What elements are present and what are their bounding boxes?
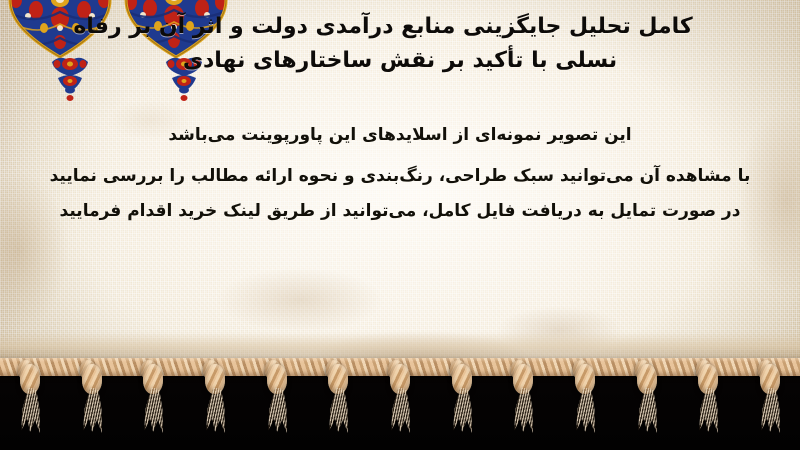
- presentation-slide: کامل تحلیل جایگزینی منابع درآمدی دولت و …: [0, 0, 800, 450]
- tassel: [4, 358, 56, 450]
- body-line-2: با مشاهده آن می‌توانید سبک طراحی، رنگ‌بن…: [14, 159, 786, 194]
- title-line-1: کامل تحلیل جایگزینی منابع درآمدی دولت و …: [18, 10, 782, 44]
- tassel: [251, 358, 303, 450]
- carpet-bottom-black-band: [0, 358, 800, 450]
- tassel: [744, 358, 796, 450]
- tassel: [436, 358, 488, 450]
- title-line-2: نسلی با تأکید بر نقش ساختارهای نهادی: [18, 44, 782, 78]
- tassel: [497, 358, 549, 450]
- slide-title: کامل تحلیل جایگزینی منابع درآمدی دولت و …: [0, 10, 800, 78]
- tassel: [559, 358, 611, 450]
- tassel: [189, 358, 241, 450]
- slide-body: این تصویر نمونه‌ای از اسلایدهای این پاور…: [0, 118, 800, 229]
- body-line-1: این تصویر نمونه‌ای از اسلایدهای این پاور…: [14, 118, 786, 153]
- tassel: [66, 358, 118, 450]
- tassel: [312, 358, 364, 450]
- body-line-3: در صورت تمایل به دریافت فایل کامل، می‌تو…: [14, 194, 786, 229]
- tassel: [127, 358, 179, 450]
- tassel: [374, 358, 426, 450]
- tassel: [621, 358, 673, 450]
- tassel: [682, 358, 734, 450]
- carpet-tassel-fringe-icon: [0, 358, 800, 450]
